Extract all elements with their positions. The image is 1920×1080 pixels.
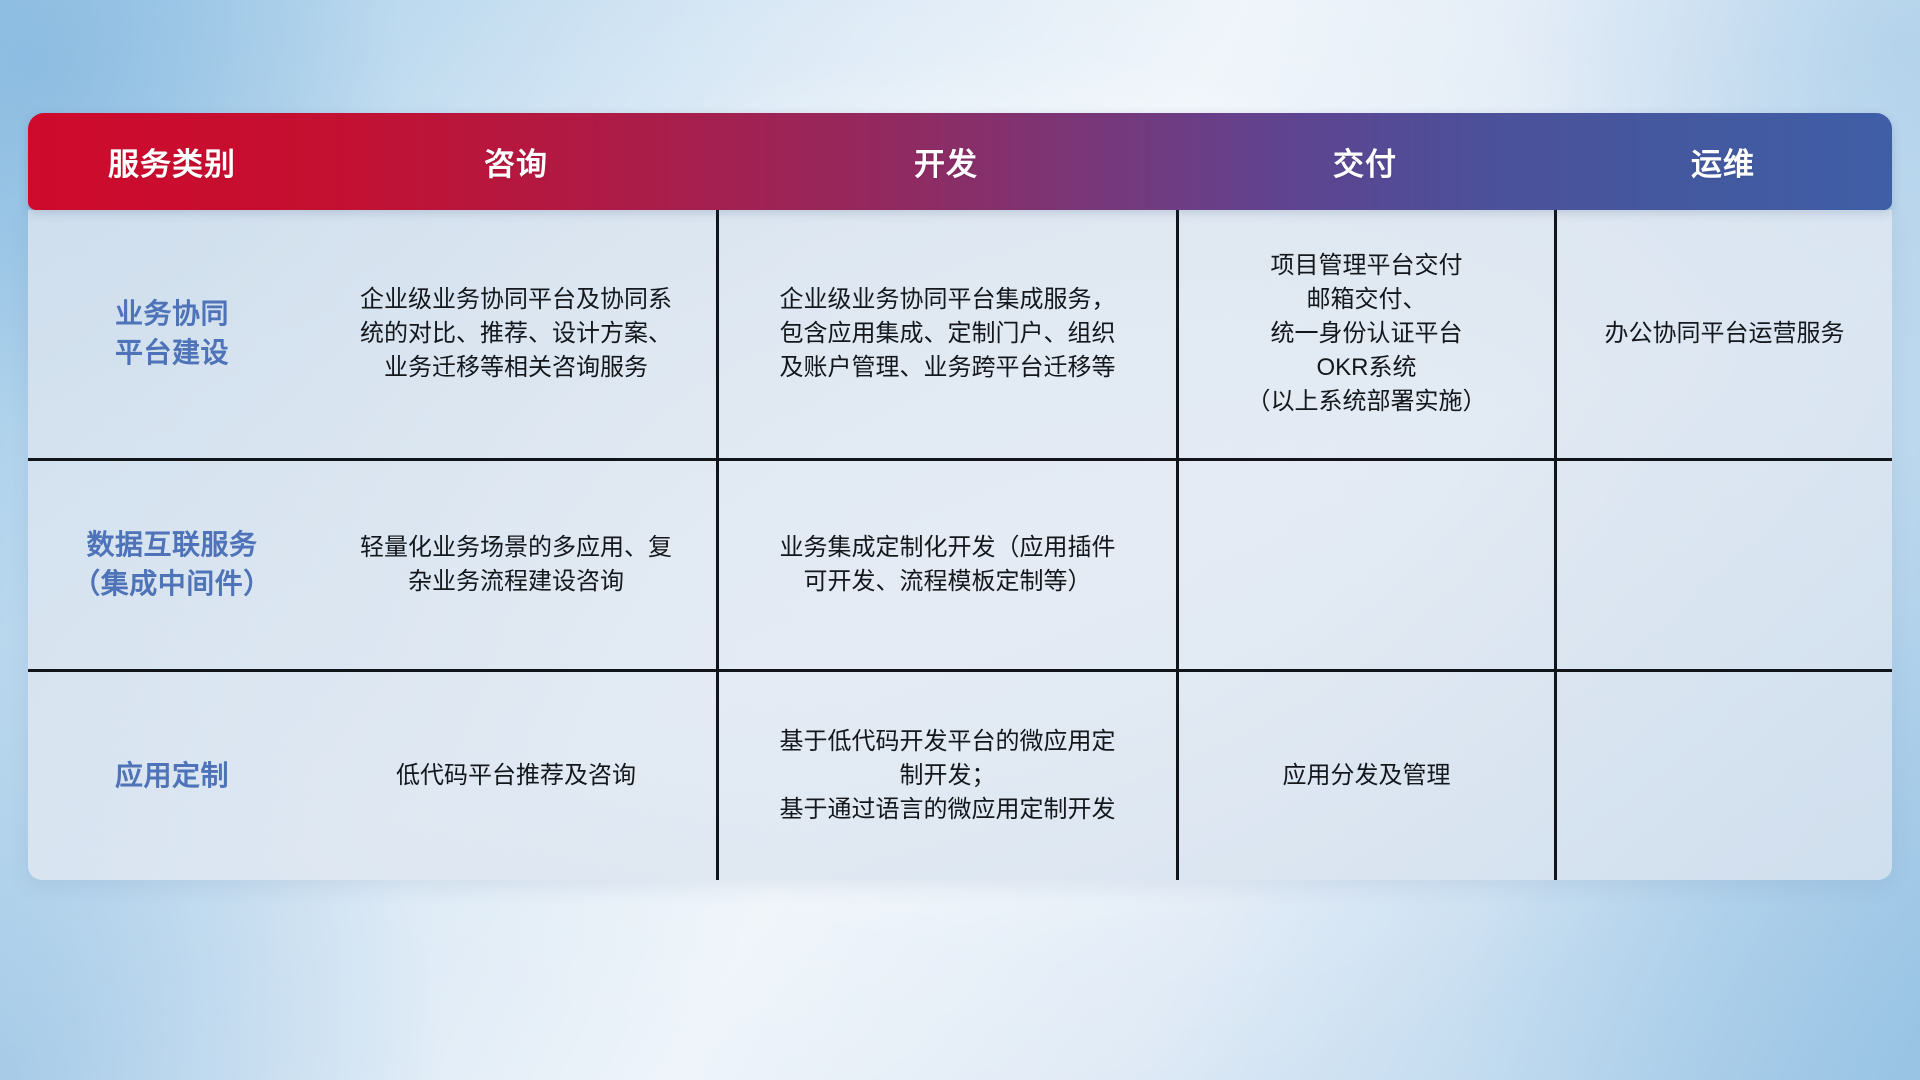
table-header-row: 服务类别 咨询 开发 交付 运维 xyxy=(28,113,1892,210)
cell-operations-row2 xyxy=(1554,461,1892,669)
table-row: 数据互联服务 （集成中间件） 轻量化业务场景的多应用、复 杂业务流程建设咨询 业… xyxy=(28,458,1892,669)
cell-delivery-row3: 应用分发及管理 xyxy=(1176,672,1554,880)
column-header-delivery: 交付 xyxy=(1176,139,1554,184)
cell-consulting-row3: 低代码平台推荐及咨询 xyxy=(316,672,716,880)
column-header-development: 开发 xyxy=(716,139,1176,184)
cell-development-row1: 企业级业务协同平台集成服务， 包含应用集成、定制门户、组织 及账户管理、业务跨平… xyxy=(716,210,1176,458)
table-body: 业务协同 平台建设 企业级业务协同平台及协同系 统的对比、推荐、设计方案、 业务… xyxy=(28,210,1892,880)
cell-consulting-row1: 企业级业务协同平台及协同系 统的对比、推荐、设计方案、 业务迁移等相关咨询服务 xyxy=(316,210,716,458)
cell-delivery-row2 xyxy=(1176,461,1554,669)
cell-consulting-row2: 轻量化业务场景的多应用、复 杂业务流程建设咨询 xyxy=(316,461,716,669)
column-header-category: 服务类别 xyxy=(28,139,316,184)
cell-development-row3: 基于低代码开发平台的微应用定 制开发； 基于通过语言的微应用定制开发 xyxy=(716,672,1176,880)
cell-operations-row3 xyxy=(1554,672,1892,880)
table-row: 业务协同 平台建设 企业级业务协同平台及协同系 统的对比、推荐、设计方案、 业务… xyxy=(28,210,1892,458)
service-matrix-table: 服务类别 咨询 开发 交付 运维 业务协同 平台建设 企业级业务协同平台及协同系… xyxy=(28,113,1892,880)
cell-category-row1: 业务协同 平台建设 xyxy=(28,210,316,458)
cell-delivery-row1: 项目管理平台交付 邮箱交付、 统一身份认证平台 OKR系统 （以上系统部署实施） xyxy=(1176,210,1554,458)
table-row: 应用定制 低代码平台推荐及咨询 基于低代码开发平台的微应用定 制开发； 基于通过… xyxy=(28,669,1892,880)
cell-operations-row1: 办公协同平台运营服务 xyxy=(1554,210,1892,458)
cell-category-row3: 应用定制 xyxy=(28,672,316,880)
column-header-consulting: 咨询 xyxy=(316,139,716,184)
cell-category-row2: 数据互联服务 （集成中间件） xyxy=(28,461,316,669)
slide-canvas: 服务类别 咨询 开发 交付 运维 业务协同 平台建设 企业级业务协同平台及协同系… xyxy=(0,0,1920,1080)
cell-development-row2: 业务集成定制化开发（应用插件 可开发、流程模板定制等） xyxy=(716,461,1176,669)
column-header-operations: 运维 xyxy=(1554,139,1892,184)
